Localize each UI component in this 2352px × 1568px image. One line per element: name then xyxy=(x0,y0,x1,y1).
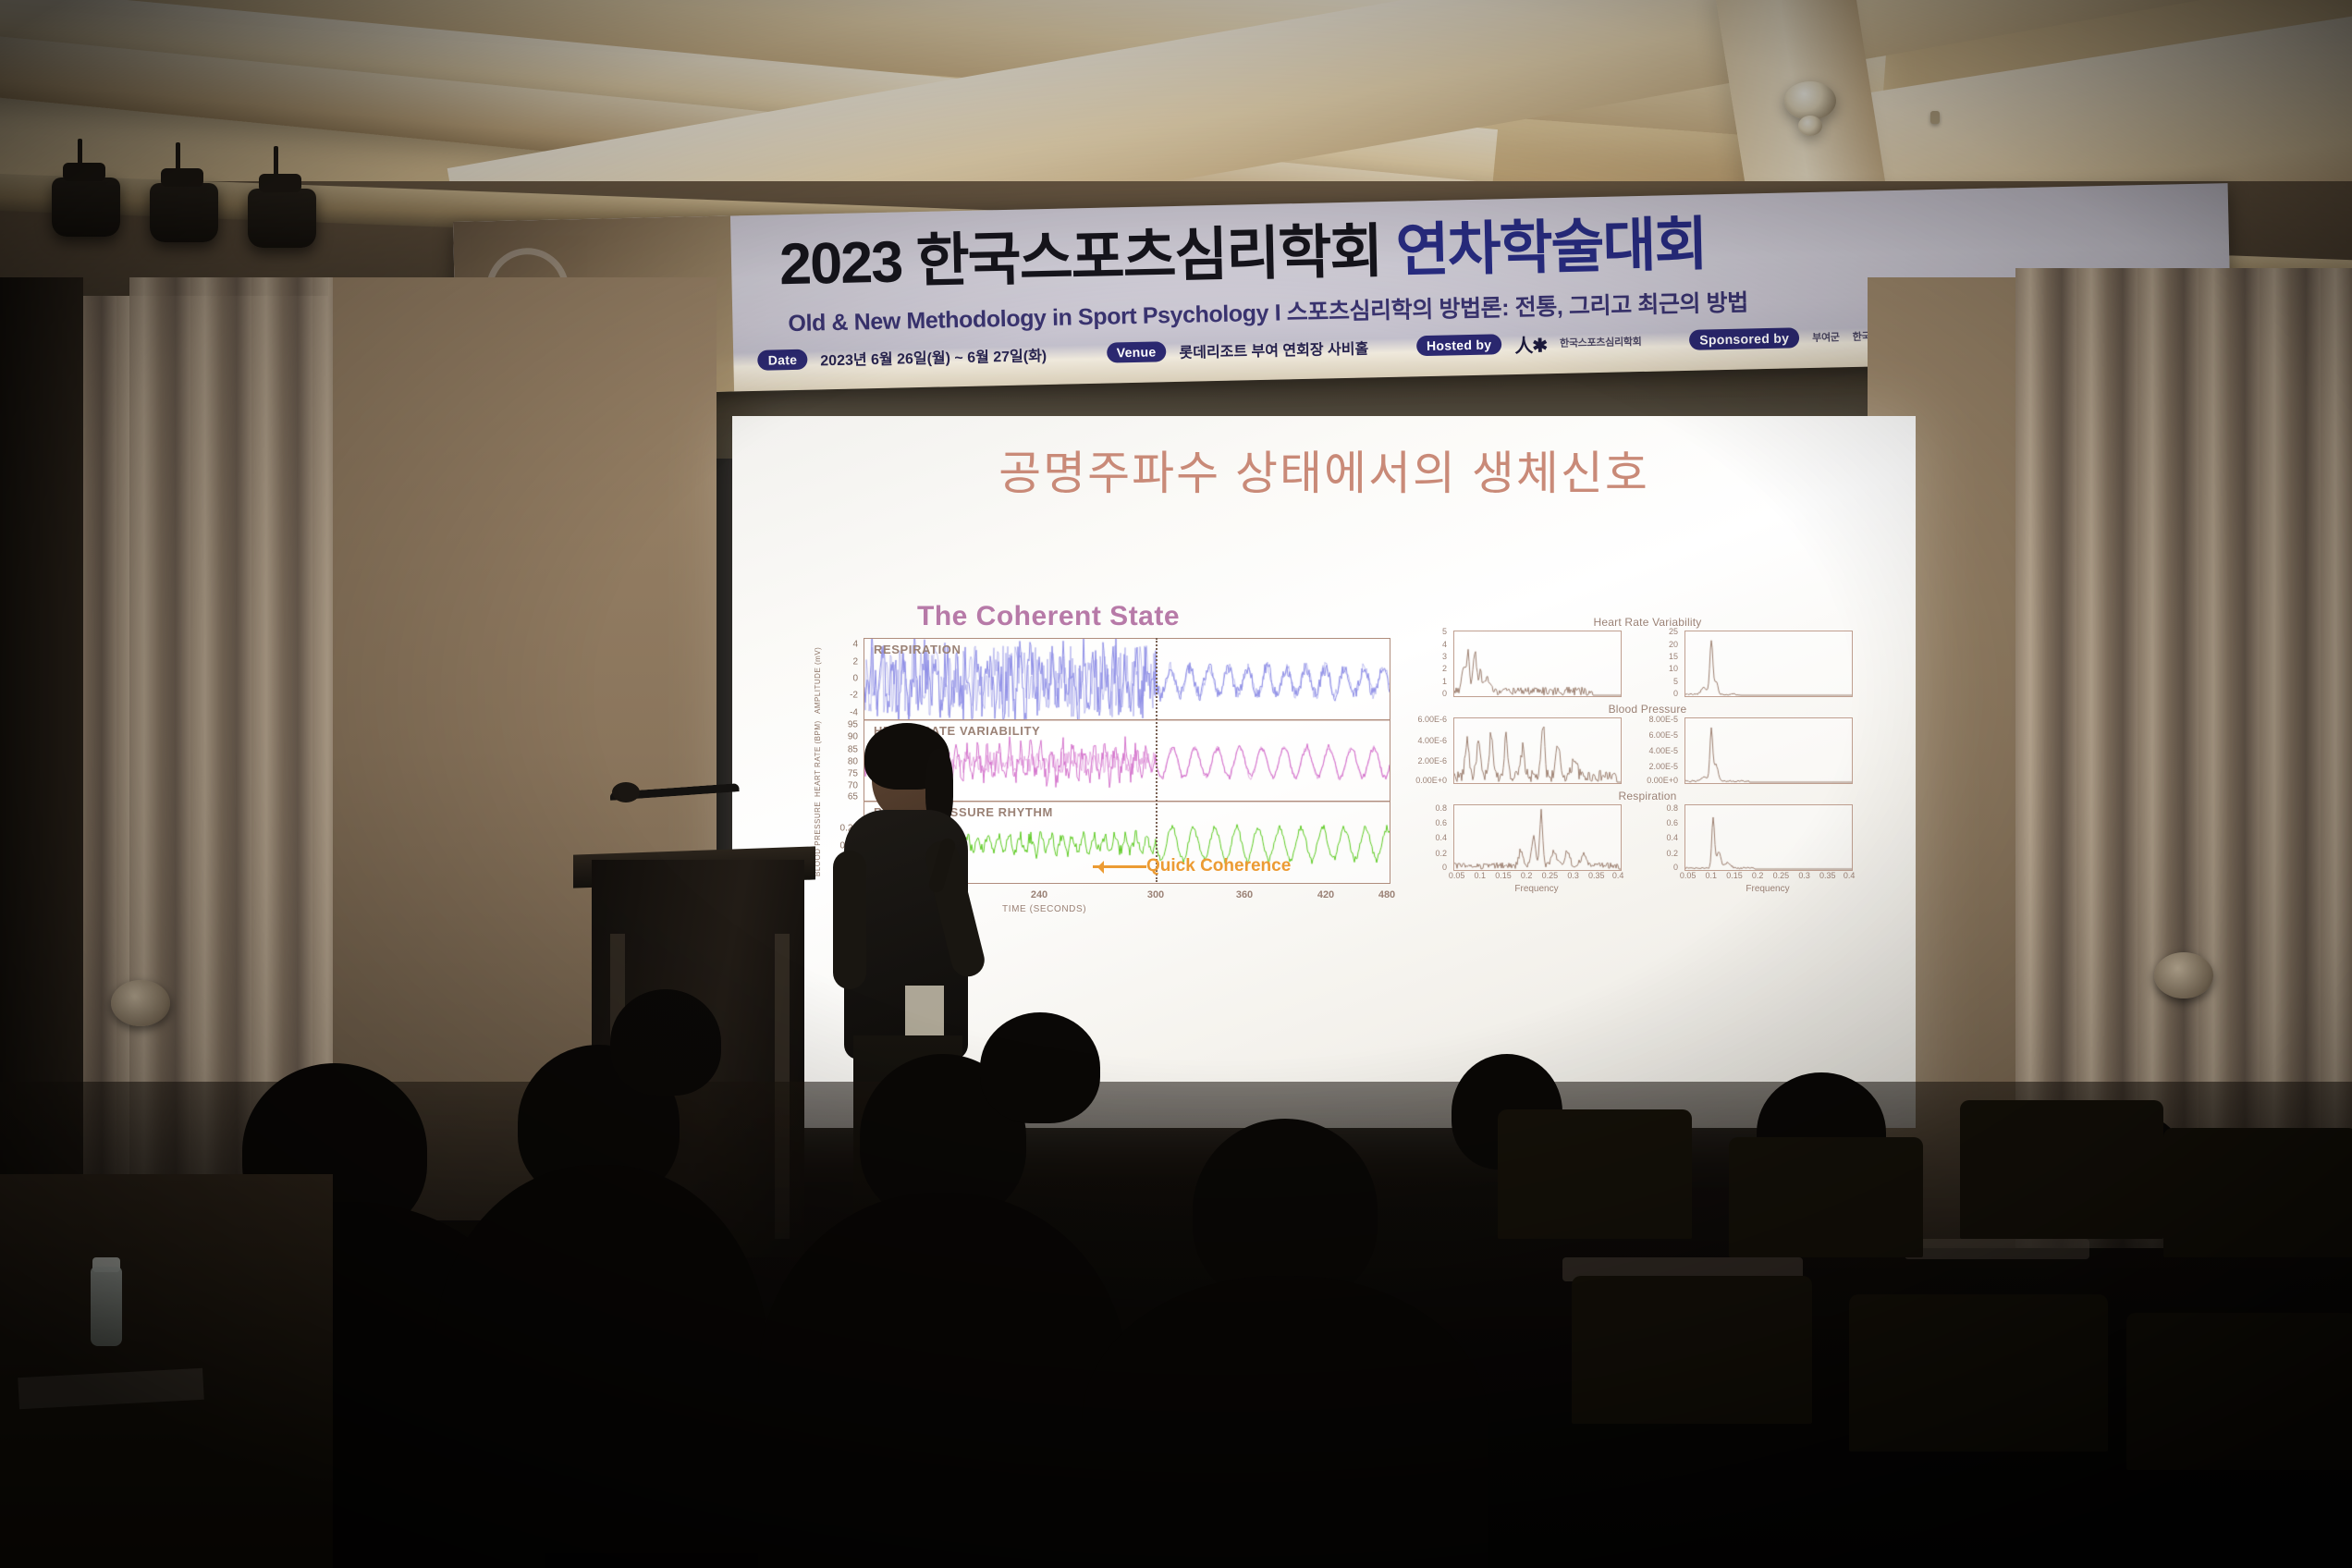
chair xyxy=(2126,1313,2352,1470)
respiration-spectrum-coherent xyxy=(1684,804,1853,871)
respiration-spectrum-incoherent-y-axis: 0.80.6 0.40.2 0 xyxy=(1420,804,1450,869)
hosted-by-chip: Hosted by xyxy=(1416,334,1502,356)
host-logo-label: 한국스포츠심리학회 xyxy=(1560,334,1642,350)
curtain-tieback xyxy=(111,980,170,1026)
slide-title: 공명주파수 상태에서의 생체신호 xyxy=(732,436,1916,503)
respiration-panel: RESPIRATION xyxy=(864,638,1390,721)
quick-coherence-arrow-icon xyxy=(1093,865,1146,868)
bp-spectrum-title: Blood Pressure xyxy=(1416,703,1879,716)
sponsor-logo-0: 부여군 xyxy=(1812,329,1840,345)
conference-photo: 2023 한국스포츠심리학회 연차학술대회 Old & New Methodol… xyxy=(0,0,2352,1568)
bp-spectrum-incoherent-y-axis: 6.00E-64.00E-6 2.00E-60.00E+0 xyxy=(1402,717,1450,782)
stage-light-truss xyxy=(37,139,472,259)
audience-area xyxy=(0,1082,2352,1568)
hrv-spectrum-incoherent-y-axis: 54 32 10 xyxy=(1416,631,1450,695)
curtain-tieback xyxy=(2154,952,2213,998)
stage-light-icon xyxy=(150,183,218,242)
chair xyxy=(1729,1137,1923,1257)
respiration-spectrum-coherent-x-axis: 0.050.1 0.150.2 0.250.3 0.350.4 xyxy=(1684,871,1851,884)
speaker-name-badge xyxy=(905,986,944,1037)
sponsored-by-chip: Sponsored by xyxy=(1689,327,1799,350)
downlight-small-icon xyxy=(1798,116,1822,136)
date-chip: Date xyxy=(757,349,807,371)
respiration-spectrum-incoherent-x-axis: 0.050.1 0.150.2 0.250.3 0.350.4 xyxy=(1453,871,1620,884)
ceiling-fixture-icon xyxy=(1930,111,1940,124)
chair xyxy=(1498,1109,1692,1239)
spectral-charts: Heart Rate Variability 54 32 10 2520 151… xyxy=(1416,629,1879,897)
chair xyxy=(1572,1276,1812,1424)
bp-spectrum-incoherent xyxy=(1453,717,1622,784)
hrv-spectrum-coherent xyxy=(1684,631,1853,697)
hrv-axis-title: HEART RATE (BPM) xyxy=(814,720,822,797)
hrv-spectrum-coherent-y-axis: 2520 1510 50 xyxy=(1642,631,1681,695)
chart-section-title: The Coherent State xyxy=(917,601,1180,632)
audience-shoulders xyxy=(435,1165,767,1553)
host-logo-icon: 人✱ xyxy=(1514,330,1547,358)
downlight-icon xyxy=(1784,81,1836,120)
time-axis-label: TIME (SECONDS) xyxy=(1002,904,1086,914)
microphone-icon xyxy=(612,782,640,802)
respiration-spectrum-coherent-y-axis: 0.80.6 0.40.2 0 xyxy=(1651,804,1681,869)
venue-value: 롯데리조트 부여 연회장 사비홀 xyxy=(1179,336,1368,361)
audience-head xyxy=(610,989,721,1096)
chair xyxy=(1849,1294,2108,1452)
respiration-axis-title: AMPLITUDE (mV) xyxy=(814,647,822,714)
banner-title-year: 2023 xyxy=(778,229,902,297)
quick-coherence-annotation: Quick Coherence xyxy=(1146,856,1291,876)
hrv-spectrum-incoherent xyxy=(1453,631,1622,697)
audience-shoulders xyxy=(758,1193,1128,1568)
banner-title-accent: 연차학술대회 xyxy=(1395,212,1707,283)
water-bottle xyxy=(91,1267,122,1346)
speaker-arm-left xyxy=(833,851,866,989)
audience-head xyxy=(980,1012,1100,1123)
bp-spectrum-coherent xyxy=(1684,717,1853,784)
respiration-spectrum-incoherent-x-label: Frequency xyxy=(1453,884,1620,894)
stage-light-icon xyxy=(248,189,316,248)
respiration-panel-label: RESPIRATION xyxy=(874,643,961,656)
respiration-spectrum-title: Respiration xyxy=(1416,790,1879,802)
respiration-spectrum-incoherent xyxy=(1453,804,1622,871)
banner-title-main: 한국스포츠심리학회 xyxy=(915,219,1382,294)
date-value: 2023년 6월 26일(월) ~ 6월 27일(화) xyxy=(820,343,1047,370)
chair xyxy=(1960,1100,2163,1239)
respiration-spectrum-coherent-x-label: Frequency xyxy=(1684,884,1851,894)
chair xyxy=(2163,1128,2352,1257)
audience-shoulders xyxy=(1082,1276,1488,1568)
table-highlight xyxy=(1905,1239,2089,1259)
coherence-onset-divider xyxy=(1156,638,1158,882)
stage-light-icon xyxy=(52,178,120,237)
respiration-y-axis: 42 0-2 -4 xyxy=(815,638,862,719)
venue-chip: Venue xyxy=(1107,341,1167,362)
bp-spectrum-coherent-y-axis: 8.00E-56.00E-5 4.00E-52.00E-5 0.00E+0 xyxy=(1633,717,1681,782)
hrv-spectrum-title: Heart Rate Variability xyxy=(1416,616,1879,629)
